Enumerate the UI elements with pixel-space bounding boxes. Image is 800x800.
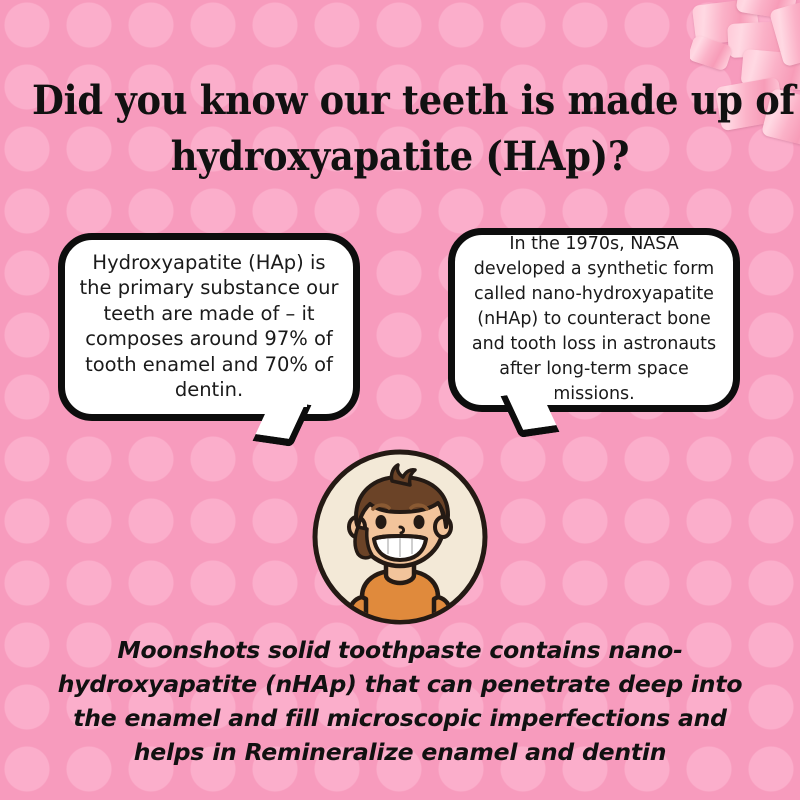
speech-bubble-left-tail-joint [263,395,307,407]
candy-piece [727,20,800,58]
speech-bubble-left-text: Hydroxyapatite (HAp) is the primary subs… [65,248,353,407]
speech-bubble-right-tail-joint [511,386,555,398]
caption-line-1: Moonshots solid toothpaste contains nano… [48,633,752,667]
caption-line-2: hydroxyapatite (nHAp) that can penetrate… [48,667,752,701]
speech-bubble-right-text: In the 1970s, NASA developed a synthetic… [455,230,733,411]
headline: Did you know our teeth is made up of hyd… [32,73,768,185]
caption: Moonshots solid toothpaste contains nano… [48,633,752,769]
headline-line-1: Did you know our teeth is made up of [32,73,768,129]
avatar [310,447,490,627]
candy-piece [690,34,733,71]
speech-bubble-right: In the 1970s, NASA developed a synthetic… [448,228,740,412]
candy-piece [692,0,760,46]
headline-line-2: hydroxyapatite (HAp)? [32,129,768,185]
poster-canvas: Did you know our teeth is made up of hyd… [0,0,800,800]
candy-piece [736,0,799,20]
speech-bubble-left: Hydroxyapatite (HAp) is the primary subs… [58,233,360,421]
smiling-child-icon [310,447,490,627]
caption-line-4: helps in Remineralize enamel and dentin [48,735,752,769]
candy-piece [769,0,800,67]
caption-line-3: the enamel and fill microscopic imperfec… [48,701,752,735]
